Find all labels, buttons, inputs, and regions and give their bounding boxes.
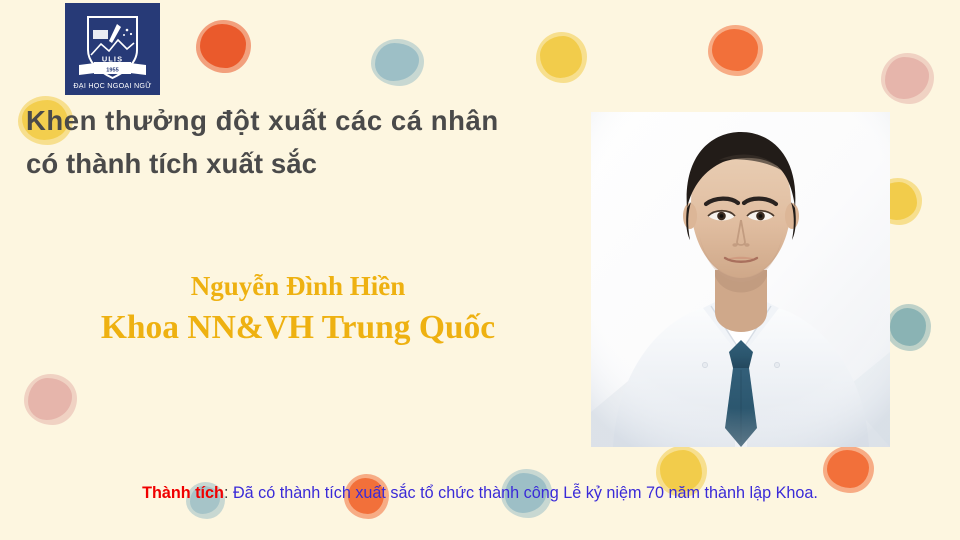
ulis-university-logo: ULIS 1955 ĐẠI HỌC NGOẠI NGỮ [65, 3, 160, 95]
honoree-name: Nguyễn Đình Hiền [28, 269, 568, 304]
honoree-portrait-photo [591, 112, 890, 447]
svg-text:1955: 1955 [106, 68, 118, 74]
page-title-line-2: có thành tích xuất sắc [26, 142, 571, 185]
achievement-text: Đã có thành tích xuất sắc tổ chức thành … [233, 484, 818, 502]
achievement-label: Thành tích [142, 484, 224, 502]
page-title: Khen thưởng đột xuất các cá nhân có thàn… [26, 99, 571, 186]
svg-text:ĐẠI HỌC NGOẠI NGỮ: ĐẠI HỌC NGOẠI NGỮ [73, 81, 151, 90]
honoree-unit: Khoa NN&VH Trung Quốc [28, 306, 568, 350]
honoree-block: Nguyễn Đình Hiền Khoa NN&VH Trung Quốc [28, 269, 568, 349]
achievement-separator: : [224, 484, 229, 502]
slide-canvas: ULIS 1955 ĐẠI HỌC NGOẠI NGỮ Khen thưởng … [0, 0, 960, 540]
page-title-line-1: Khen thưởng đột xuất các cá nhân [26, 99, 571, 142]
achievement-caption: Thành tích: Đã có thành tích xuất sắc tổ… [0, 483, 960, 503]
